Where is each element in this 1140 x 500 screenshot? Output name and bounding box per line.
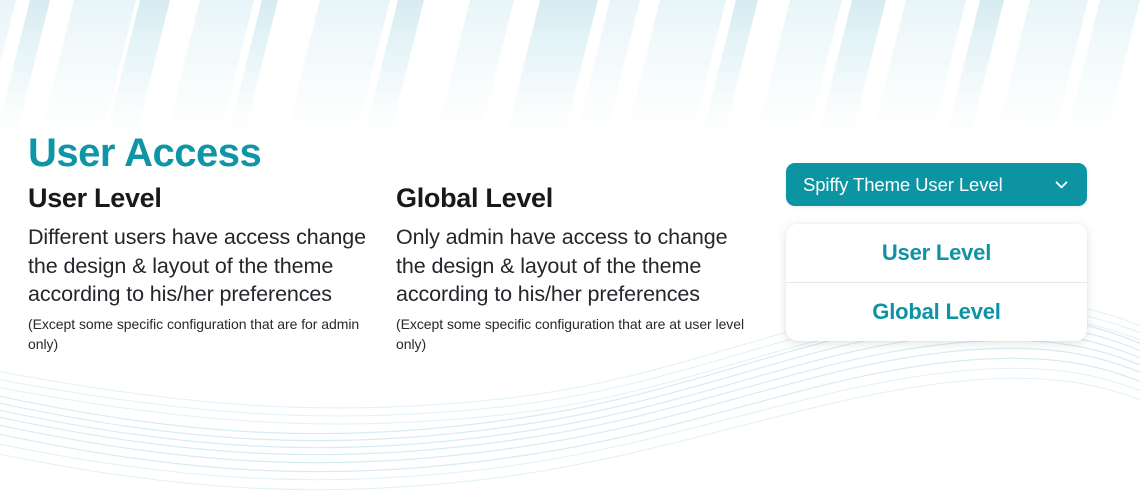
column-global-level: Global Level Only admin have access to c… bbox=[396, 183, 746, 354]
dropdown-toggle-button[interactable]: Spiffy Theme User Level bbox=[786, 163, 1087, 206]
dropdown-selected-label: Spiffy Theme User Level bbox=[803, 174, 1003, 196]
column-heading: Global Level bbox=[396, 183, 746, 213]
column-note-text: (Except some specific configuration that… bbox=[28, 315, 378, 354]
dropdown-options-list: User Level Global Level bbox=[786, 224, 1087, 341]
column-heading: User Level bbox=[28, 183, 378, 213]
dropdown-option-global-level[interactable]: Global Level bbox=[786, 282, 1087, 341]
dropdown-option-user-level[interactable]: User Level bbox=[786, 224, 1087, 282]
slide-content: User Access User Level Different users h… bbox=[0, 0, 1140, 500]
page-title: User Access bbox=[28, 131, 261, 175]
column-body-text: Only admin have access to change the des… bbox=[396, 223, 746, 308]
chevron-down-icon bbox=[1053, 176, 1070, 193]
theme-level-dropdown: Spiffy Theme User Level User Level Globa… bbox=[786, 163, 1087, 341]
column-body-text: Different users have access change the d… bbox=[28, 223, 378, 308]
column-note-text: (Except some specific configuration that… bbox=[396, 315, 746, 354]
slide-canvas: User Access User Level Different users h… bbox=[0, 0, 1140, 500]
column-user-level: User Level Different users have access c… bbox=[28, 183, 378, 354]
